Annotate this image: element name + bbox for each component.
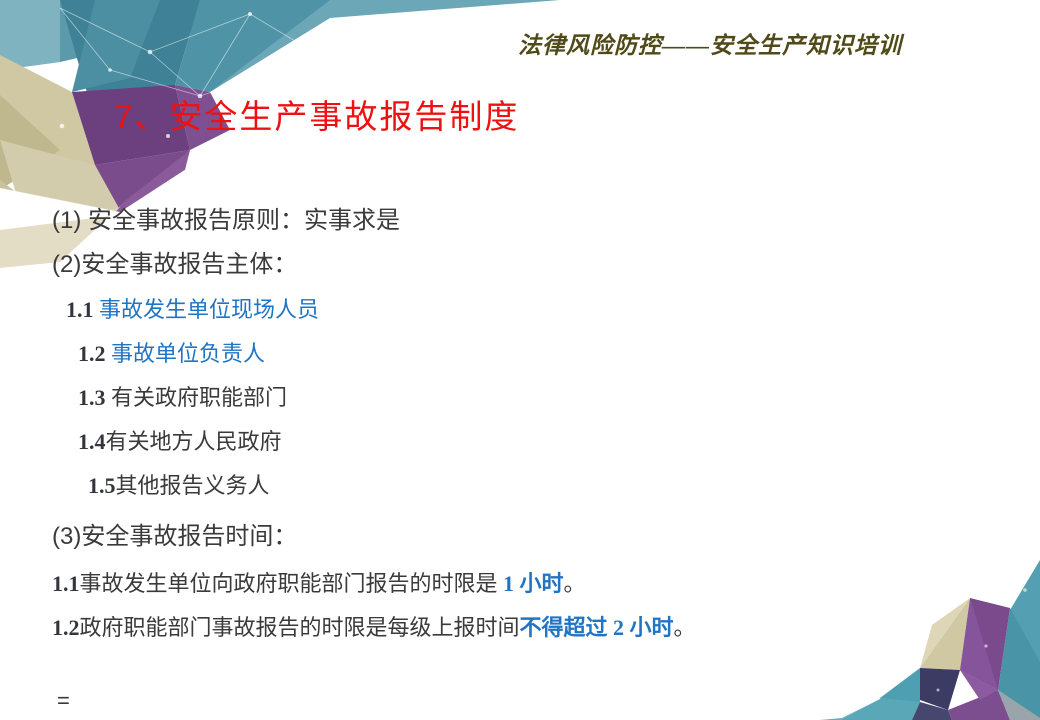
line-subject-1-1-seg-1: 事故发生单位现场人员 [99, 297, 319, 322]
line-time-1-2-seg-3: 。 [674, 615, 696, 640]
line-time-1-2-seg-0: 1.2 [52, 615, 80, 640]
line-subject-1-3-seg-1: 有关政府职能部门 [111, 385, 287, 410]
line-subject-1-3-seg-0: 1.3 [78, 385, 111, 410]
line-time-1-2: 1.2政府职能部门事故报告的时限是每级上报时间不得超过 2 小时。 [52, 610, 696, 642]
line-time-1-1-seg-0: 1.1 [52, 571, 80, 596]
line-subject-heading-seg-0: (2)安全事故报告主体： [52, 251, 297, 278]
line-principle: (1) 安全事故报告原则：实事求是 [52, 200, 400, 235]
line-subject-1-1-seg-0: 1.1 [66, 297, 99, 322]
low-poly-bottom-right-icon [820, 550, 1040, 720]
header-title: 法律风险防控——安全生产知识培训 [500, 26, 920, 60]
line-subject-1-3: 1.3 有关政府职能部门 [78, 380, 287, 412]
line-time-heading-seg-0: (3)安全事故报告时间： [52, 523, 297, 550]
line-time-1-2-seg-2: 不得超过 2 小时 [520, 615, 674, 640]
line-time-1-1-seg-3: 。 [564, 571, 586, 596]
line-subject-heading: (2)安全事故报告主体： [52, 244, 297, 279]
line-principle-seg-0: (1) 安全事故报告原则：实事求是 [52, 207, 400, 234]
line-subject-1-5-seg-1: 其他报告义务人 [116, 473, 270, 498]
trailing-mark: = [57, 688, 70, 714]
line-time-heading: (3)安全事故报告时间： [52, 516, 297, 551]
line-subject-1-1: 1.1 事故发生单位现场人员 [66, 292, 319, 324]
line-subject-1-2-seg-0: 1.2 [78, 341, 111, 366]
line-time-1-1-seg-1: 事故发生单位向政府职能部门报告的时限是 [80, 571, 504, 596]
line-subject-1-2: 1.2 事故单位负责人 [78, 336, 265, 368]
line-subject-1-5-seg-0: 1.5 [88, 473, 116, 498]
line-subject-1-4-seg-1: 有关地方人民政府 [106, 429, 282, 454]
line-time-1-1-seg-2: 1 小时 [503, 571, 564, 596]
line-subject-1-4-seg-0: 1.4 [78, 429, 106, 454]
line-subject-1-5: 1.5其他报告义务人 [88, 468, 270, 500]
slide-canvas: 法律风险防控——安全生产知识培训 7、安全生产事故报告制度 (1) 安全事故报告… [0, 0, 1040, 720]
line-subject-1-4: 1.4有关地方人民政府 [78, 424, 282, 456]
line-time-1-1: 1.1事故发生单位向政府职能部门报告的时限是 1 小时。 [52, 566, 586, 598]
line-subject-1-2-seg-1: 事故单位负责人 [111, 341, 265, 366]
decoration-bottom-right [820, 550, 1040, 720]
line-time-1-2-seg-1: 政府职能部门事故报告的时限是每级上报时间 [80, 615, 520, 640]
page-title: 7、安全生产事故报告制度 [114, 90, 519, 138]
